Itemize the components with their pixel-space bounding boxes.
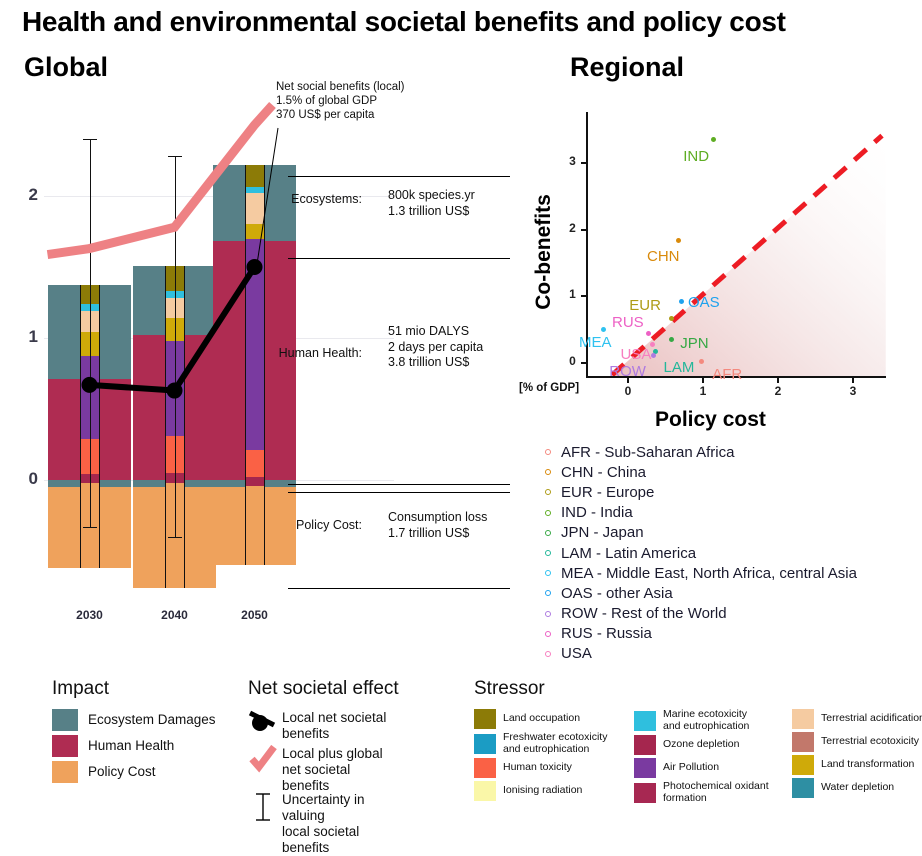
- scatter-label-lam: LAM: [664, 359, 695, 376]
- x-tick-mark: [702, 378, 704, 383]
- callout-line-2: 1.5% of global GDP: [276, 94, 404, 108]
- color-swatch: [634, 758, 656, 778]
- stressor-legend-label: Human toxicity: [503, 762, 572, 774]
- net-benefits-callout: Net social benefits (local) 1.5% of glob…: [276, 80, 404, 122]
- callout-line-1: Net social benefits (local): [276, 80, 404, 94]
- region-legend-label: IND - India: [561, 504, 633, 521]
- net-legend-item[interactable]: Local plus global net societal benefits: [248, 745, 399, 794]
- region-dot-icon: [545, 651, 551, 657]
- net-legend-label: Local net societal benefits: [282, 709, 399, 742]
- region-dot-icon: [545, 611, 551, 617]
- annotation-separator: [288, 588, 510, 589]
- pink-thick-line-icon: [248, 745, 278, 773]
- color-swatch: [634, 783, 656, 803]
- region-dot-icon: [545, 489, 551, 495]
- category-label: Human Health:: [270, 346, 362, 360]
- stressor-legend-label: Land transformation: [821, 759, 914, 771]
- impact-legend-label: Policy Cost: [88, 765, 156, 779]
- category-value-line: 1.3 trillion US$: [388, 204, 475, 220]
- annotation-separator: [288, 176, 510, 177]
- stressor-column: Land occupationFreshwater ecotoxicity an…: [474, 709, 629, 804]
- region-legend: AFR - Sub-Saharan AfricaCHN - ChinaEUR -…: [527, 442, 922, 664]
- stressor-legend-item[interactable]: Marine ecotoxicity and eutrophication: [634, 709, 789, 732]
- region-dot-icon: [545, 510, 551, 516]
- category-values: 800k species.yr1.3 trillion US$: [388, 188, 475, 219]
- regional-scatter-chart: 01230123INDCHNOASEURJPNRUSMEAUSALAMROWAF…: [520, 108, 922, 408]
- stressor-legend-item[interactable]: Ionising radiation: [474, 781, 629, 801]
- stressor-legend-item[interactable]: Ozone depletion: [634, 735, 789, 755]
- stressor-legend-label: Terrestrial acidification: [821, 713, 922, 725]
- stressor-legend-label: Land occupation: [503, 713, 580, 725]
- region-legend-label: LAM - Latin America: [561, 545, 696, 562]
- x-axis-tick-label: 2030: [60, 608, 120, 622]
- category-value-line: 2 days per capita: [388, 340, 483, 356]
- annotation-separator: [288, 258, 510, 259]
- scatter-x-tick-label: 2: [766, 384, 790, 398]
- color-swatch: [474, 734, 496, 754]
- category-value-line: 51 mio DALYS: [388, 324, 483, 340]
- impact-legend-item[interactable]: Policy Cost: [52, 761, 216, 783]
- category-value-line: 800k species.yr: [388, 188, 475, 204]
- stressor-column: Marine ecotoxicity and eutrophicationOzo…: [634, 709, 789, 807]
- region-legend-item[interactable]: JPN - Japan: [527, 523, 922, 543]
- scatter-point-eur: [669, 316, 674, 321]
- scatter-label-usa: USA: [621, 346, 652, 363]
- stressor-legend-item[interactable]: Terrestrial ecotoxicity: [792, 732, 922, 752]
- stressor-legend-heading: Stressor: [474, 678, 545, 700]
- region-legend-item[interactable]: ROW - Rest of the World: [527, 604, 922, 624]
- region-legend-label: USA: [561, 645, 592, 662]
- net-legend-item[interactable]: Local net societal benefits: [248, 709, 399, 742]
- color-swatch: [792, 755, 814, 775]
- color-swatch: [634, 735, 656, 755]
- region-legend-label: CHN - China: [561, 464, 646, 481]
- scatter-label-eur: EUR: [629, 297, 661, 314]
- color-swatch: [52, 709, 78, 731]
- stressor-legend-item[interactable]: Air Pollution: [634, 758, 789, 778]
- stressor-legend-label: Ionising radiation: [503, 785, 582, 797]
- stressor-legend-item[interactable]: Freshwater ecotoxicity and eutrophicatio…: [474, 732, 629, 755]
- color-swatch: [792, 778, 814, 798]
- stressor-legend-item[interactable]: Terrestrial acidification: [792, 709, 922, 729]
- region-dot-icon: [545, 530, 551, 536]
- region-legend-item[interactable]: IND - India: [527, 503, 922, 523]
- scatter-point-mea: [601, 327, 606, 332]
- scatter-point-afr: [699, 359, 704, 364]
- category-values: 51 mio DALYS2 days per capita3.8 trillio…: [388, 324, 483, 371]
- color-swatch: [792, 732, 814, 752]
- region-legend-label: AFR - Sub-Saharan Africa: [561, 444, 734, 461]
- y-tick-mark: [581, 229, 586, 231]
- stressor-legend-label: Marine ecotoxicity and eutrophication: [663, 709, 749, 732]
- stressor-legend-label: Photochemical oxidant formation: [663, 781, 769, 804]
- x-tick-mark: [777, 378, 779, 383]
- stressor-legend-item[interactable]: Photochemical oxidant formation: [634, 781, 789, 804]
- annotation-separator: [288, 492, 510, 493]
- right-panel-title: Regional: [570, 52, 684, 83]
- y-tick-mark: [581, 295, 586, 297]
- net-societal-effect-legend: Net societal effect Local net societal b…: [248, 678, 399, 709]
- stressor-legend-item[interactable]: Human toxicity: [474, 758, 629, 778]
- color-swatch: [792, 709, 814, 729]
- region-legend-item[interactable]: CHN - China: [527, 462, 922, 482]
- scatter-point-jpn: [669, 337, 674, 342]
- scatter-y-tick-label: 3: [556, 154, 576, 168]
- x-axis-tick-label: 2050: [225, 608, 285, 622]
- scatter-y-tick-label: 0: [556, 354, 576, 368]
- scatter-x-tick-label: 3: [841, 384, 865, 398]
- net-legend-icon: [248, 709, 282, 736]
- region-legend-label: MEA - Middle East, North Africa, central…: [561, 565, 857, 582]
- scatter-x-axis-title: Policy cost: [655, 408, 766, 432]
- x-tick-mark: [852, 378, 854, 383]
- page-title: Health and environmental societal benefi…: [22, 6, 912, 38]
- region-legend-item[interactable]: USA: [527, 644, 922, 664]
- net-legend-icon: [248, 745, 282, 778]
- stressor-legend-item[interactable]: Land occupation: [474, 709, 629, 729]
- scatter-point-chn: [676, 238, 681, 243]
- region-legend-item[interactable]: OAS - other Asia: [527, 583, 922, 603]
- y-axis-tick-label: 1: [4, 327, 38, 347]
- scatter-y-tick-label: 1: [556, 287, 576, 301]
- scatter-label-oas: OAS: [688, 294, 720, 311]
- category-value-line: Consumption loss: [388, 510, 487, 526]
- stressor-legend-label: Freshwater ecotoxicity and eutrophicatio…: [503, 732, 607, 755]
- stressor-legend-label: Ozone depletion: [663, 739, 739, 751]
- scatter-y-axis-title: Co-benefits: [532, 194, 556, 310]
- stressor-legend: Stressor Land occupationFreshwater ecoto…: [474, 678, 545, 829]
- impact-legend-item[interactable]: Human Health: [52, 735, 216, 757]
- scatter-x-tick-label: 1: [691, 384, 715, 398]
- scatter-unit-note: [% of GDP]: [519, 382, 579, 394]
- region-legend-label: EUR - Europe: [561, 484, 654, 501]
- impact-legend-label: Human Health: [88, 739, 174, 753]
- stressor-column: Terrestrial acidificationTerrestrial eco…: [792, 709, 922, 801]
- scatter-point-row: [651, 353, 656, 358]
- impact-legend-heading: Impact: [52, 678, 216, 700]
- region-legend-item[interactable]: EUR - Europe: [527, 482, 922, 502]
- black-line-dot-icon: [248, 709, 278, 731]
- region-dot-icon: [545, 469, 551, 475]
- region-legend-label: OAS - other Asia: [561, 585, 673, 602]
- region-legend-item[interactable]: AFR - Sub-Saharan Africa: [527, 442, 922, 462]
- region-legend-label: ROW - Rest of the World: [561, 605, 727, 622]
- region-dot-icon: [545, 590, 551, 596]
- region-dot-icon: [545, 550, 551, 556]
- scatter-point-ind: [711, 137, 716, 142]
- region-legend-label: JPN - Japan: [561, 524, 644, 541]
- category-value-line: 3.8 trillion US$: [388, 355, 483, 371]
- region-legend-item[interactable]: LAM - Latin America: [527, 543, 922, 563]
- net-legend-label: Local plus global net societal benefits: [282, 745, 399, 794]
- scatter-label-rus: RUS: [612, 314, 644, 331]
- stressor-legend-item[interactable]: Land transformation: [792, 755, 922, 775]
- impact-legend: Impact Ecosystem DamagesHuman HealthPoli…: [52, 678, 216, 787]
- category-label: Policy Cost:: [270, 518, 362, 532]
- scatter-label-ind: IND: [683, 148, 709, 165]
- stressor-legend-label: Terrestrial ecotoxicity: [821, 736, 919, 748]
- annotation-separator: [288, 484, 510, 485]
- y-axis-tick-label: 2: [4, 185, 38, 205]
- scatter-y-tick-label: 2: [556, 221, 576, 235]
- scatter-label-chn: CHN: [647, 248, 680, 265]
- category-values: Consumption loss1.7 trillion US$: [388, 510, 487, 541]
- y-tick-mark: [581, 162, 586, 164]
- region-legend-item[interactable]: MEA - Middle East, North Africa, central…: [527, 563, 922, 583]
- scatter-label-jpn: JPN: [680, 335, 708, 352]
- color-swatch: [52, 735, 78, 757]
- left-panel-title: Global: [24, 52, 108, 83]
- color-swatch: [474, 781, 496, 801]
- stressor-legend-label: Air Pollution: [663, 762, 719, 774]
- color-swatch: [474, 709, 496, 729]
- category-label: Ecosystems:: [270, 192, 362, 206]
- scatter-point-rus: [646, 331, 651, 336]
- color-swatch: [474, 758, 496, 778]
- region-dot-icon: [545, 449, 551, 455]
- scatter-label-afr: AFR: [712, 366, 742, 383]
- stressor-legend-item[interactable]: Water depletion: [792, 778, 922, 798]
- x-axis-tick-label: 2040: [145, 608, 205, 622]
- net-legend-icon: [248, 791, 282, 828]
- scatter-label-mea: MEA: [579, 334, 612, 351]
- region-dot-icon: [545, 570, 551, 576]
- y-tick-mark: [581, 362, 586, 364]
- region-legend-label: RUS - Russia: [561, 625, 652, 642]
- y-axis-tick-label: 0: [4, 469, 38, 489]
- color-swatch: [634, 711, 656, 731]
- category-value-line: 1.7 trillion US$: [388, 526, 487, 542]
- scatter-label-row: ROW: [609, 363, 646, 380]
- impact-legend-label: Ecosystem Damages: [88, 713, 216, 727]
- region-legend-item[interactable]: RUS - Russia: [527, 624, 922, 644]
- callout-line-3: 370 US$ per capita: [276, 108, 404, 122]
- region-dot-icon: [545, 631, 551, 637]
- color-swatch: [52, 761, 78, 783]
- net-legend-heading: Net societal effect: [248, 678, 399, 700]
- scatter-point-oas: [679, 299, 684, 304]
- impact-legend-item[interactable]: Ecosystem Damages: [52, 709, 216, 731]
- error-bar-icon: [248, 791, 278, 823]
- scatter-x-tick-label: 0: [616, 384, 640, 398]
- stressor-legend-label: Water depletion: [821, 782, 894, 794]
